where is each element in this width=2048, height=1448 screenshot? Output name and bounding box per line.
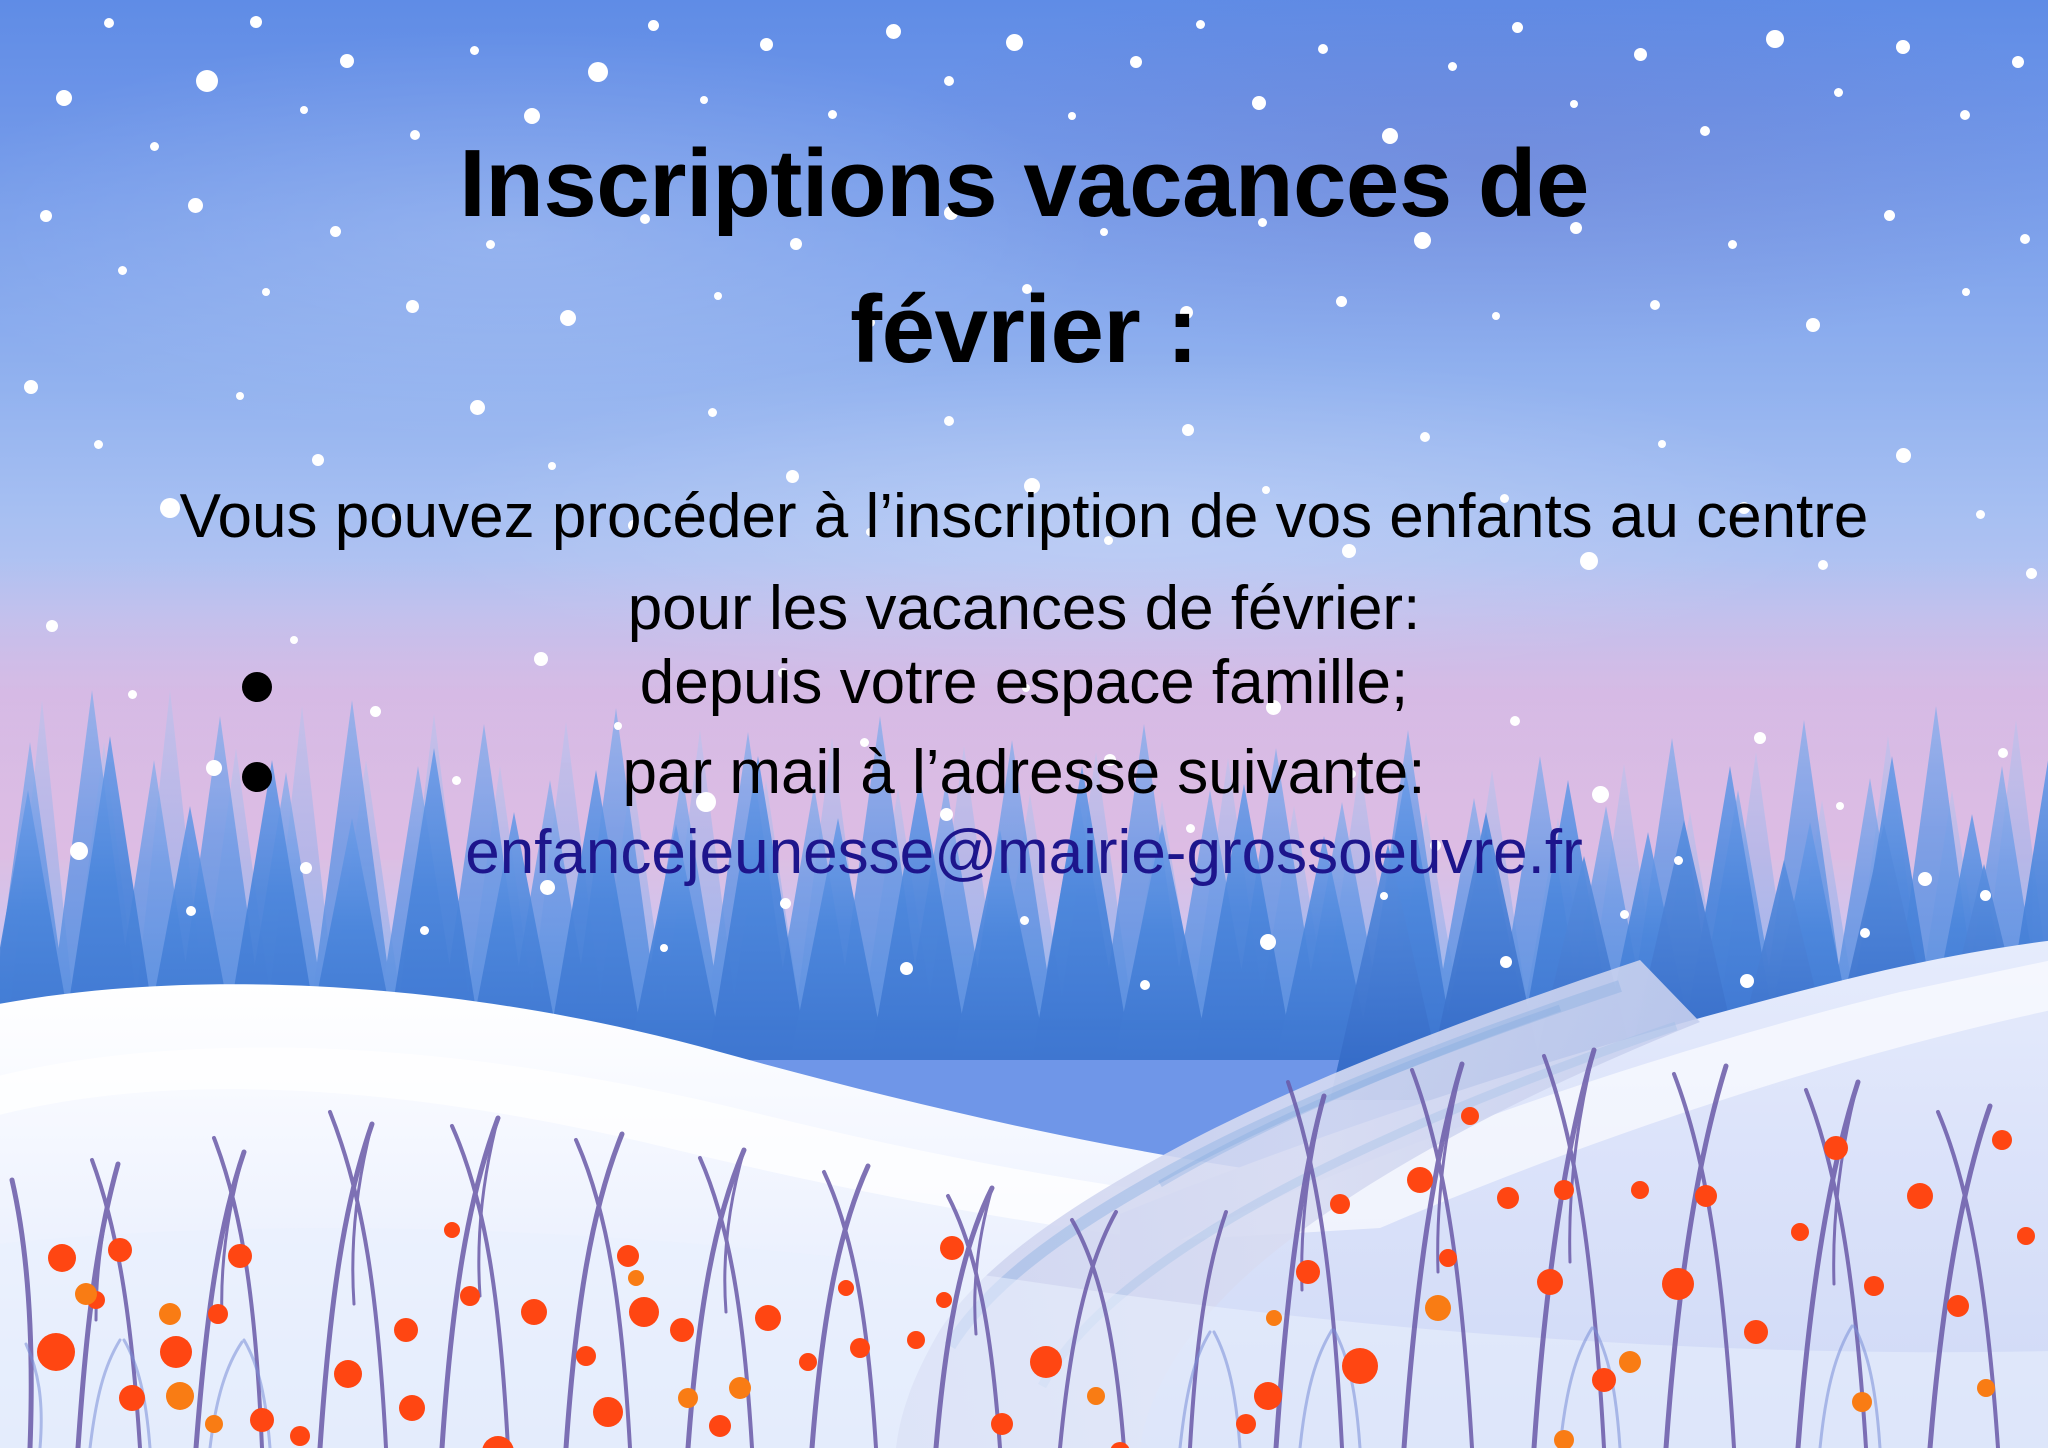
- page-title-line-1: Inscriptions vacances de: [0, 136, 2048, 232]
- poster-text: Inscriptions vacances de février : Vous …: [0, 0, 2048, 1448]
- contact-email-address[interactable]: enfancejeunesse@mairie-grossoeuvre.fr: [0, 822, 2048, 884]
- intro-paragraph-line-2: pour les vacances de février:: [0, 578, 2048, 640]
- list-item: par mail à l’adresse suivante:: [0, 742, 2048, 804]
- winter-announcement-poster: Inscriptions vacances de février : Vous …: [0, 0, 2048, 1448]
- page-title-line-2: février :: [0, 282, 2048, 378]
- intro-paragraph-line-1: Vous pouvez procéder à l’inscription de …: [0, 486, 2048, 548]
- list-item: depuis votre espace famille;: [0, 652, 2048, 714]
